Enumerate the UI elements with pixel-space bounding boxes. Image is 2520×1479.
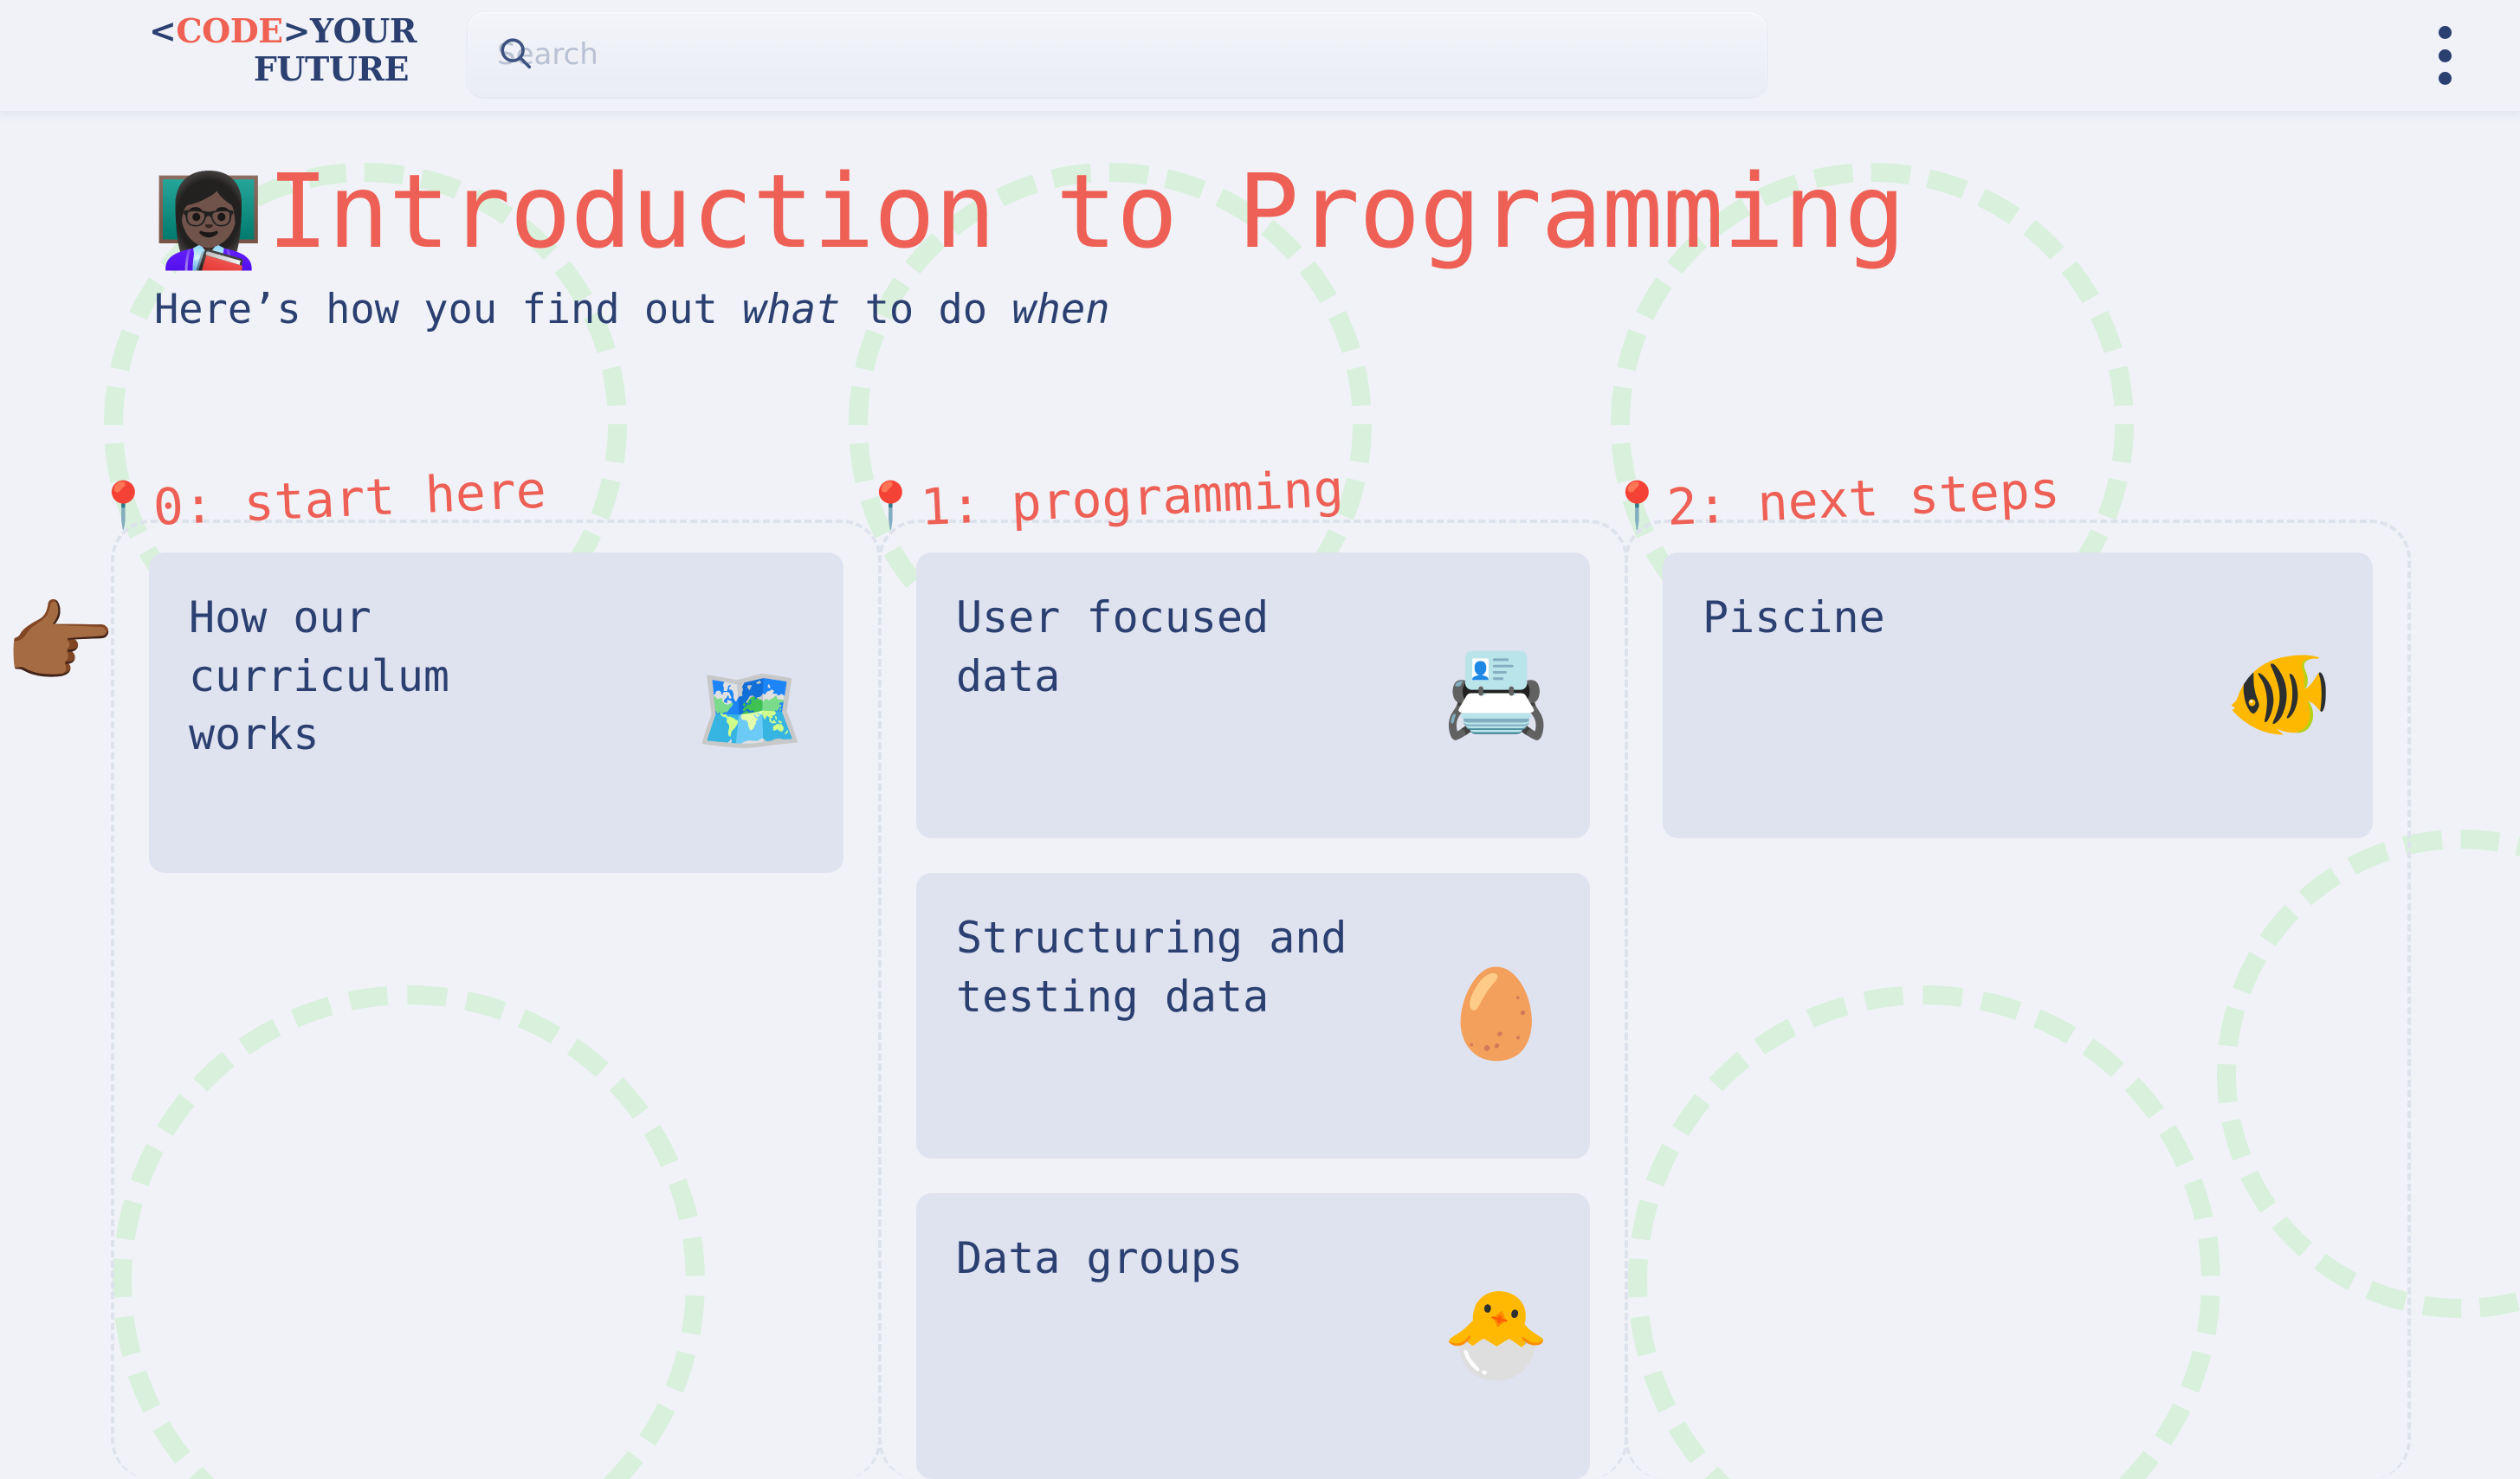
- column-start-here: 📍 0: start here How our curriculum works…: [111, 520, 882, 1479]
- app-header-bar: <CODE>YOUR FUTURE: [0, 0, 2520, 111]
- logo-open-bracket: <: [149, 11, 176, 50]
- tropical-fish-emoji: 🐠: [2225, 650, 2333, 737]
- column-header-1: 📍 1: programming: [863, 478, 1344, 537]
- page-title-text: Introduction to Programming: [268, 152, 1905, 271]
- card-piscine[interactable]: Piscine 🐠: [1663, 552, 2373, 838]
- logo-code-text: CODE: [176, 11, 282, 50]
- card-title: User focused data: [956, 589, 1349, 706]
- kebab-dot-3: [2439, 72, 2452, 85]
- curriculum-columns: 📍 0: start here How our curriculum works…: [111, 520, 2414, 1479]
- pushpin-icon: 📍: [863, 483, 919, 528]
- pushpin-icon: 📍: [1609, 483, 1665, 528]
- logo-your-text: YOUR: [310, 11, 417, 50]
- card-title: How our curriculum works: [189, 589, 573, 765]
- search-input[interactable]: [468, 12, 1767, 97]
- column-header-0: 📍 0: start here: [95, 478, 546, 537]
- hatching-chick-emoji: 🐣: [1442, 1291, 1550, 1378]
- logo-close-bracket: >: [283, 11, 310, 50]
- card-data-groups[interactable]: Data groups 🐣: [916, 1193, 1590, 1479]
- card-title: Structuring and testing data: [956, 909, 1427, 1026]
- kebab-menu-icon[interactable]: [2414, 23, 2475, 88]
- brand-logo[interactable]: <CODE>YOUR FUTURE: [149, 12, 409, 88]
- pushpin-icon: 📍: [95, 483, 152, 528]
- kebab-dot-2: [2439, 49, 2452, 62]
- column-header-label-0: 0: start here: [152, 460, 547, 537]
- column-next-steps: 📍 2: next steps Piscine 🐠: [1625, 520, 2411, 1479]
- world-map-emoji: 🗺️: [695, 668, 804, 754]
- logo-future-text: FUTURE: [254, 49, 409, 88]
- page-subtitle: Here’s how you find out what to do when: [0, 268, 2520, 333]
- column-header-2: 📍 2: next steps: [1609, 478, 2060, 537]
- subtitle-prefix: Here’s how you find out: [154, 286, 742, 333]
- page-header: 👩🏿‍🏫Introduction to Programming Here’s h…: [0, 111, 2520, 333]
- egg-emoji: 🥚: [1442, 971, 1550, 1057]
- search-box[interactable]: [468, 12, 1767, 97]
- column-programming: 📍 1: programming User focused data 📇 Str…: [878, 520, 1628, 1479]
- teacher-emoji: 👩🏿‍🏫: [152, 168, 264, 274]
- subtitle-emphasis-what: what: [742, 286, 840, 333]
- column-header-label-1: 1: programming: [919, 459, 1344, 537]
- card-title: Piscine: [1703, 589, 2225, 648]
- card-how-our-curriculum-works[interactable]: How our curriculum works 🗺️: [149, 552, 843, 873]
- subtitle-middle: to do: [840, 286, 1011, 333]
- page-title: 👩🏿‍🏫Introduction to Programming: [0, 111, 2520, 268]
- column-header-label-2: 2: next steps: [1665, 460, 2061, 537]
- card-title: Data groups: [956, 1230, 1442, 1288]
- subtitle-emphasis-when: when: [1011, 286, 1109, 333]
- pointing-hand-emoji: 👉🏾: [3, 597, 116, 688]
- card-structuring-and-testing-data[interactable]: Structuring and testing data 🥚: [916, 873, 1590, 1159]
- kebab-dot-1: [2439, 26, 2452, 39]
- card-user-focused-data[interactable]: User focused data 📇: [916, 552, 1590, 838]
- card-index-emoji: 📇: [1442, 650, 1550, 737]
